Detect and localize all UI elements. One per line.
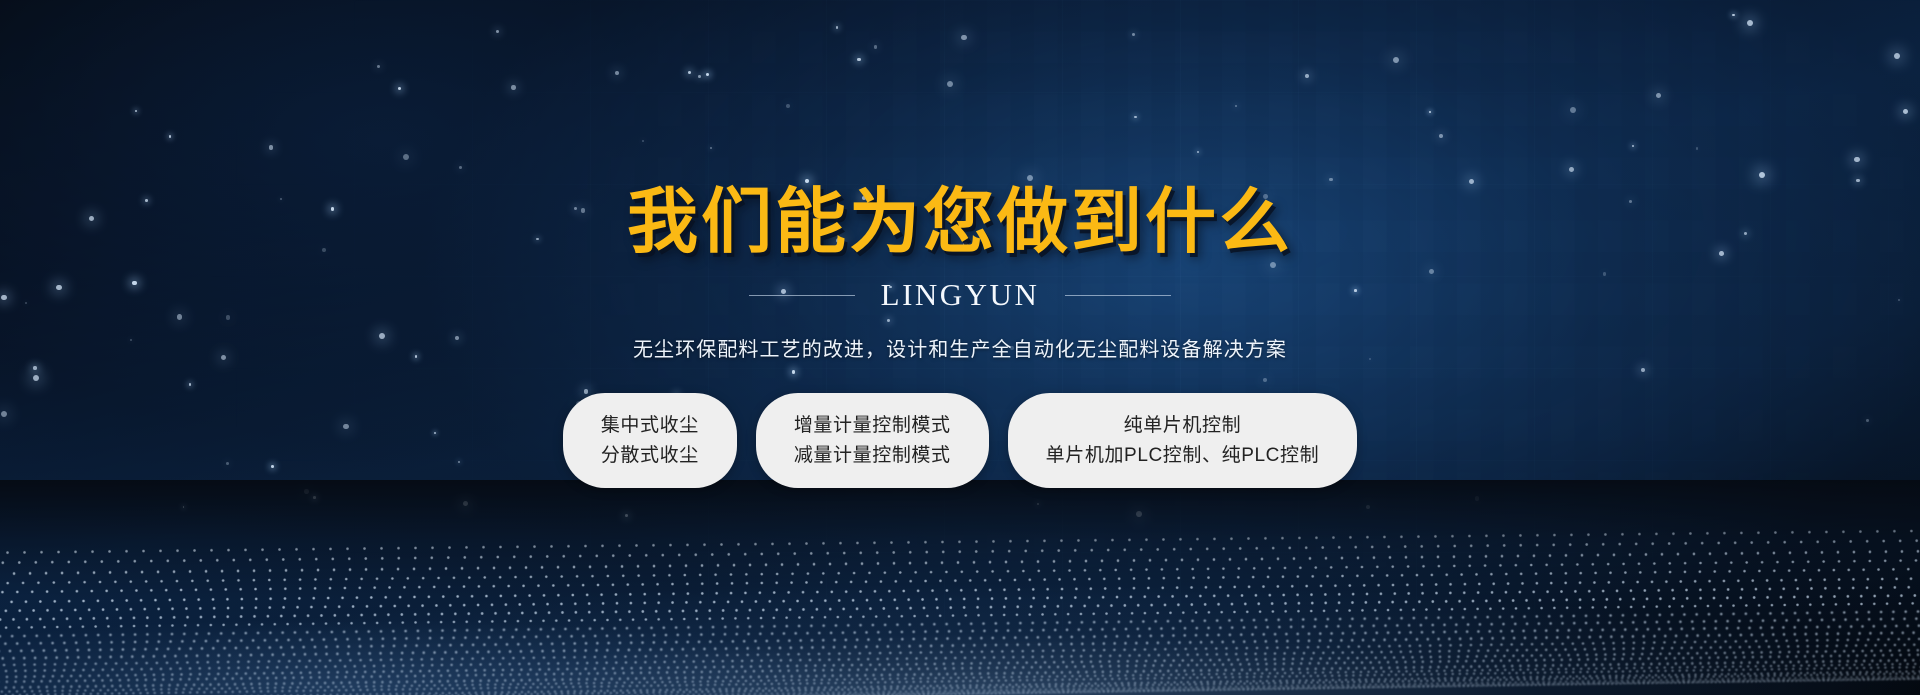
pill-line-1: 增量计量控制模式: [794, 416, 951, 435]
pill-line-1: 纯单片机控制: [1124, 416, 1242, 435]
rule-right: [1065, 295, 1171, 296]
feature-pill-group: 集中式收尘 分散式收尘 增量计量控制模式 减量计量控制模式 纯单片机控制 单片机…: [563, 393, 1357, 488]
feature-pill-weighing-mode[interactable]: 增量计量控制模式 减量计量控制模式: [756, 393, 989, 488]
pill-line-2: 单片机加PLC控制、纯PLC控制: [1046, 446, 1320, 465]
pill-line-2: 分散式收尘: [601, 446, 699, 465]
hero-banner: 我们能为您做到什么 LINGYUN 无尘环保配料工艺的改进，设计和生产全自动化无…: [0, 0, 1920, 695]
banner-description: 无尘环保配料工艺的改进，设计和生产全自动化无尘配料设备解决方案: [633, 333, 1287, 362]
pill-line-1: 集中式收尘: [601, 416, 699, 435]
banner-headline: 我们能为您做到什么: [627, 186, 1293, 257]
brand-row: LINGYUN: [749, 277, 1172, 313]
rule-left: [749, 295, 855, 296]
banner-content: 我们能为您做到什么 LINGYUN 无尘环保配料工艺的改进，设计和生产全自动化无…: [0, 0, 1920, 695]
brand-name: LINGYUN: [881, 277, 1040, 313]
feature-pill-dust-collection[interactable]: 集中式收尘 分散式收尘: [563, 393, 737, 488]
pill-line-2: 减量计量控制模式: [794, 446, 951, 465]
feature-pill-control-system[interactable]: 纯单片机控制 单片机加PLC控制、纯PLC控制: [1008, 393, 1358, 488]
